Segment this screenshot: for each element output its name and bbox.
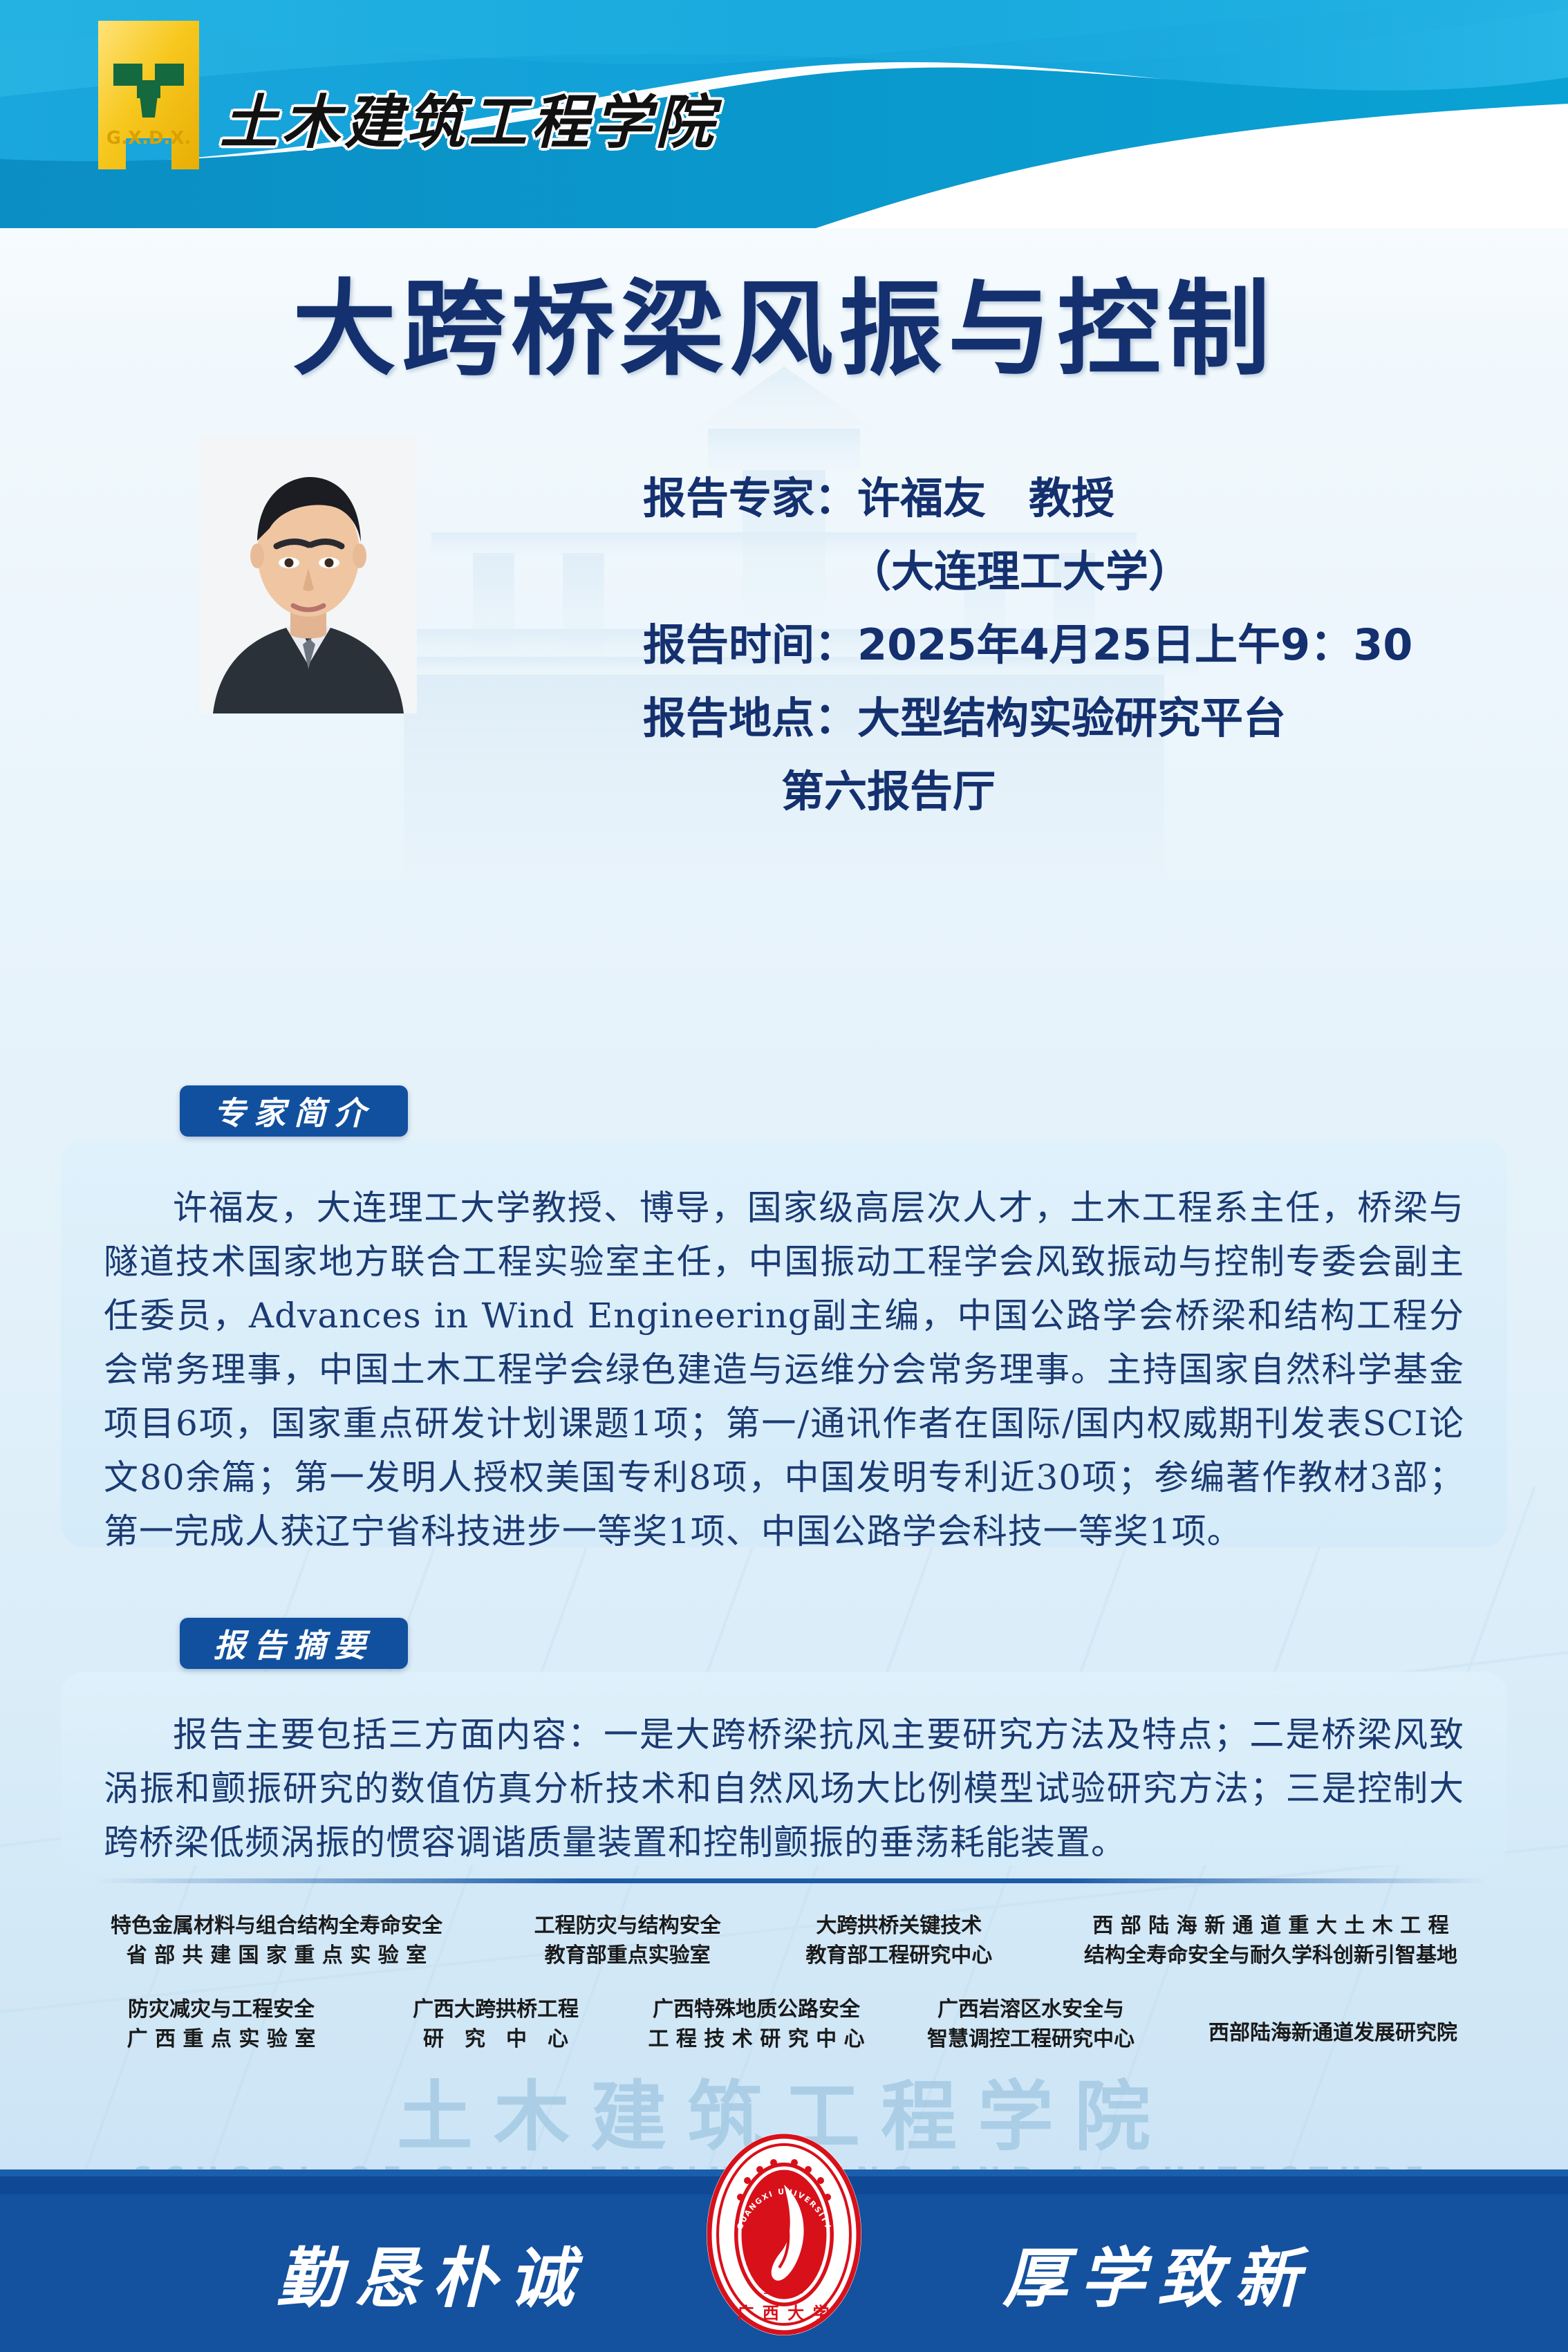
abstract-text-wrapper: 报告主要包括三方面内容：一是大跨桥梁抗风主要研究方法及特点；二是桥梁风致涡振和颤… xyxy=(104,1708,1464,1869)
lab-item: 西 部 陆 海 新 通 道 重 大 土 木 工 程 结构全寿命安全与耐久学科创新… xyxy=(1056,1912,1485,1970)
bio-text: 许福友，大连理工大学教授、博导，国家级高层次人才，土木工程系主任，桥梁与隧道技术… xyxy=(104,1181,1464,1558)
gxdx-logo: G.X.D.X. xyxy=(83,21,214,169)
abstract-text: 报告主要包括三方面内容：一是大跨桥梁抗风主要研究方法及特点；二是桥梁风致涡振和颤… xyxy=(104,1708,1464,1869)
lab-item: 工程防灾与结构安全 教育部重点实验室 xyxy=(514,1912,742,1970)
logo-acronym: G.X.D.X. xyxy=(106,128,192,149)
bio-panel: 许福友，大连理工大学教授、博导，国家级高层次人才，土木工程系主任，桥梁与隧道技术… xyxy=(61,1139,1507,1547)
speaker-affiliation-line: （大连理工大学） xyxy=(643,550,1514,593)
labs-footer: 特色金属材料与组合结构全寿命安全 省 部 共 建 国 家 重 点 实 验 室 工… xyxy=(0,1891,1568,2054)
slogan-right: 厚学致新 xyxy=(1002,2226,1312,2320)
seal-cn-text: 广 西 大 学 xyxy=(737,2303,830,2323)
school-name: 土木建筑工程学院 xyxy=(220,76,718,160)
lab-item: 广西岩溶区水安全与 智慧调控工程研究中心 xyxy=(899,1995,1162,2054)
speaker-place-line-2: 第六报告厅 xyxy=(643,770,1514,813)
speaker-place-line: 报告地点：大型结构实验研究平台 xyxy=(643,697,1514,740)
speaker-expert-line: 报告专家：许福友 教授 xyxy=(643,477,1514,520)
lab-item: 防灾减灾与工程安全 广 西 重 点 实 验 室 xyxy=(83,1995,360,2054)
seal-year: 1928 xyxy=(763,2280,805,2298)
page-title: 大跨桥梁风振与控制 xyxy=(0,245,1568,395)
abstract-panel: 报告主要包括三方面内容：一是大跨桥梁抗风主要研究方法及特点；二是桥梁风致涡振和颤… xyxy=(61,1672,1507,1865)
lab-item: 广西大跨拱桥工程 研 究 中 心 xyxy=(378,1995,613,2054)
guangxi-university-seal: GUANGXI UNIVERSITY 1928 广 西 大 学 xyxy=(704,2131,864,2338)
labs-row-1: 特色金属材料与组合结构全寿命安全 省 部 共 建 国 家 重 点 实 验 室 工… xyxy=(0,1891,1568,1970)
header-band: G.X.D.X. 土木建筑工程学院 xyxy=(0,0,1568,228)
lab-item: 西部陆海新通道发展研究院 xyxy=(1181,1995,1485,2048)
bio-badge: 专家简介 xyxy=(180,1085,408,1137)
bio-text-wrapper: 许福友，大连理工大学教授、博导，国家级高层次人才，土木工程系主任，桥梁与隧道技术… xyxy=(104,1181,1464,1558)
portrait-illustration xyxy=(199,437,417,713)
lab-item: 大跨拱桥关键技术 教育部工程研究中心 xyxy=(785,1912,1013,1970)
labs-divider xyxy=(97,1878,1486,1883)
slogan-left: 勤恳朴诚 xyxy=(277,2226,586,2320)
speaker-time-line: 报告时间：2025年4月25日上午9：30 xyxy=(643,624,1514,666)
labs-row-2: 防灾减灾与工程安全 广 西 重 点 实 验 室 广西大跨拱桥工程 研 究 中 心… xyxy=(0,1970,1568,2054)
abstract-badge: 报告摘要 xyxy=(180,1618,408,1669)
speaker-info: 报告专家：许福友 教授 （大连理工大学） 报告时间：2025年4月25日上午9：… xyxy=(643,477,1514,843)
lab-item: 特色金属材料与组合结构全寿命安全 省 部 共 建 国 家 重 点 实 验 室 xyxy=(83,1912,470,1970)
poster-root: 土木建筑工程学院 SCHOOL OF CIVIL ENGINEERING AND… xyxy=(0,0,1568,2352)
speaker-portrait xyxy=(199,437,417,713)
lab-item: 广西特殊地质公路安全 工 程 技 术 研 究 中 心 xyxy=(632,1995,881,2054)
